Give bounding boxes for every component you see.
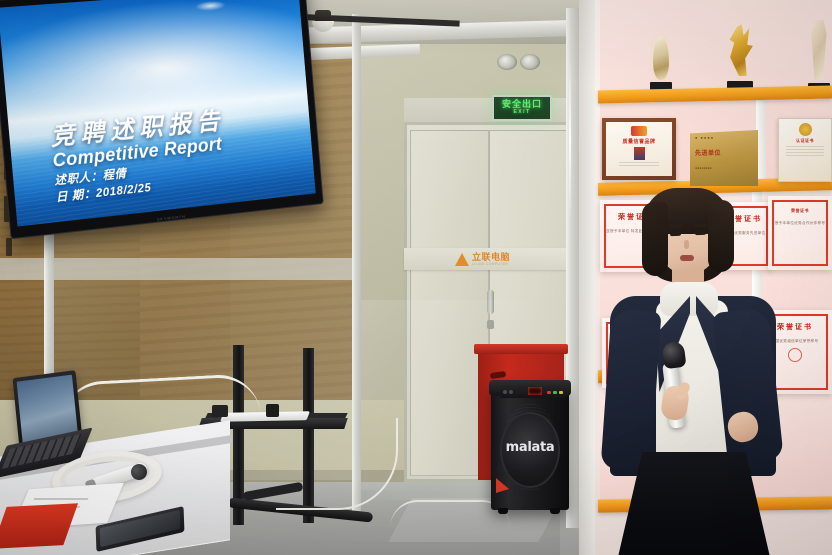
award-plaque-crystal: 认证证书: [778, 118, 832, 182]
golden-wing-trophy: [722, 24, 758, 90]
plaque-badge-icon: [799, 123, 812, 136]
eye-left: [670, 232, 681, 237]
mullion-highlight: [569, 60, 571, 220]
track-spotlight-icon: [312, 10, 334, 34]
hair-side-left: [642, 202, 668, 276]
plaque-title: 认证证书: [782, 138, 828, 144]
mouth: [680, 255, 694, 261]
red-podium-top: [474, 344, 568, 354]
speaker-foot: [550, 508, 560, 514]
speaker-brand-label: malata: [500, 440, 560, 455]
paper-text-line: [34, 498, 89, 500]
certificate-seal-icon: [788, 348, 802, 362]
power-adapter: [266, 404, 279, 417]
speaker-led-red: [547, 391, 551, 394]
presentation-room-photo: 立联电脑 LILIAN COMPUTER 安全出口 EXIT: [0, 0, 832, 555]
tv-screen[interactable]: 竞聘述职报告 Competitive Report 述职人：程倩 日 期：201…: [0, 0, 316, 227]
eye-right: [695, 231, 706, 236]
award-plaque-gold: ● ●●●● 先进单位 ●●●●●●●●: [690, 130, 758, 186]
plaque-title: 先进单位: [695, 148, 753, 157]
wall-notice: [6, 238, 12, 256]
black-skirt: [618, 452, 770, 555]
speaker-knob[interactable]: [503, 390, 507, 394]
speaker-led-green: [553, 391, 557, 394]
eyebrow-right: [694, 224, 707, 227]
award-plaque-wood: 质量信誉品牌: [602, 118, 676, 180]
speaker-triangle-badge: [496, 478, 509, 493]
screen-glare: [194, 0, 226, 12]
speaker-display: [528, 387, 542, 395]
presentation-display[interactable]: 竞聘述职报告 Competitive Report 述职人：程倩 日 期：201…: [0, 0, 324, 239]
crystal-column-trophy: [806, 20, 832, 90]
hair-side-right: [708, 200, 734, 272]
speaker-foot: [498, 508, 508, 514]
plaque-photo: [634, 147, 645, 160]
leaf-crystal-trophy: [648, 36, 674, 90]
speaker-knob[interactable]: [509, 390, 513, 394]
plaque-title: 质量信誉品牌: [622, 138, 655, 145]
plaque-emblem-icon: [631, 126, 647, 136]
cabinet-side-panel: [579, 0, 595, 555]
nose: [684, 240, 689, 249]
presenter: [600, 190, 790, 555]
speaker-led-yellow: [559, 391, 563, 394]
